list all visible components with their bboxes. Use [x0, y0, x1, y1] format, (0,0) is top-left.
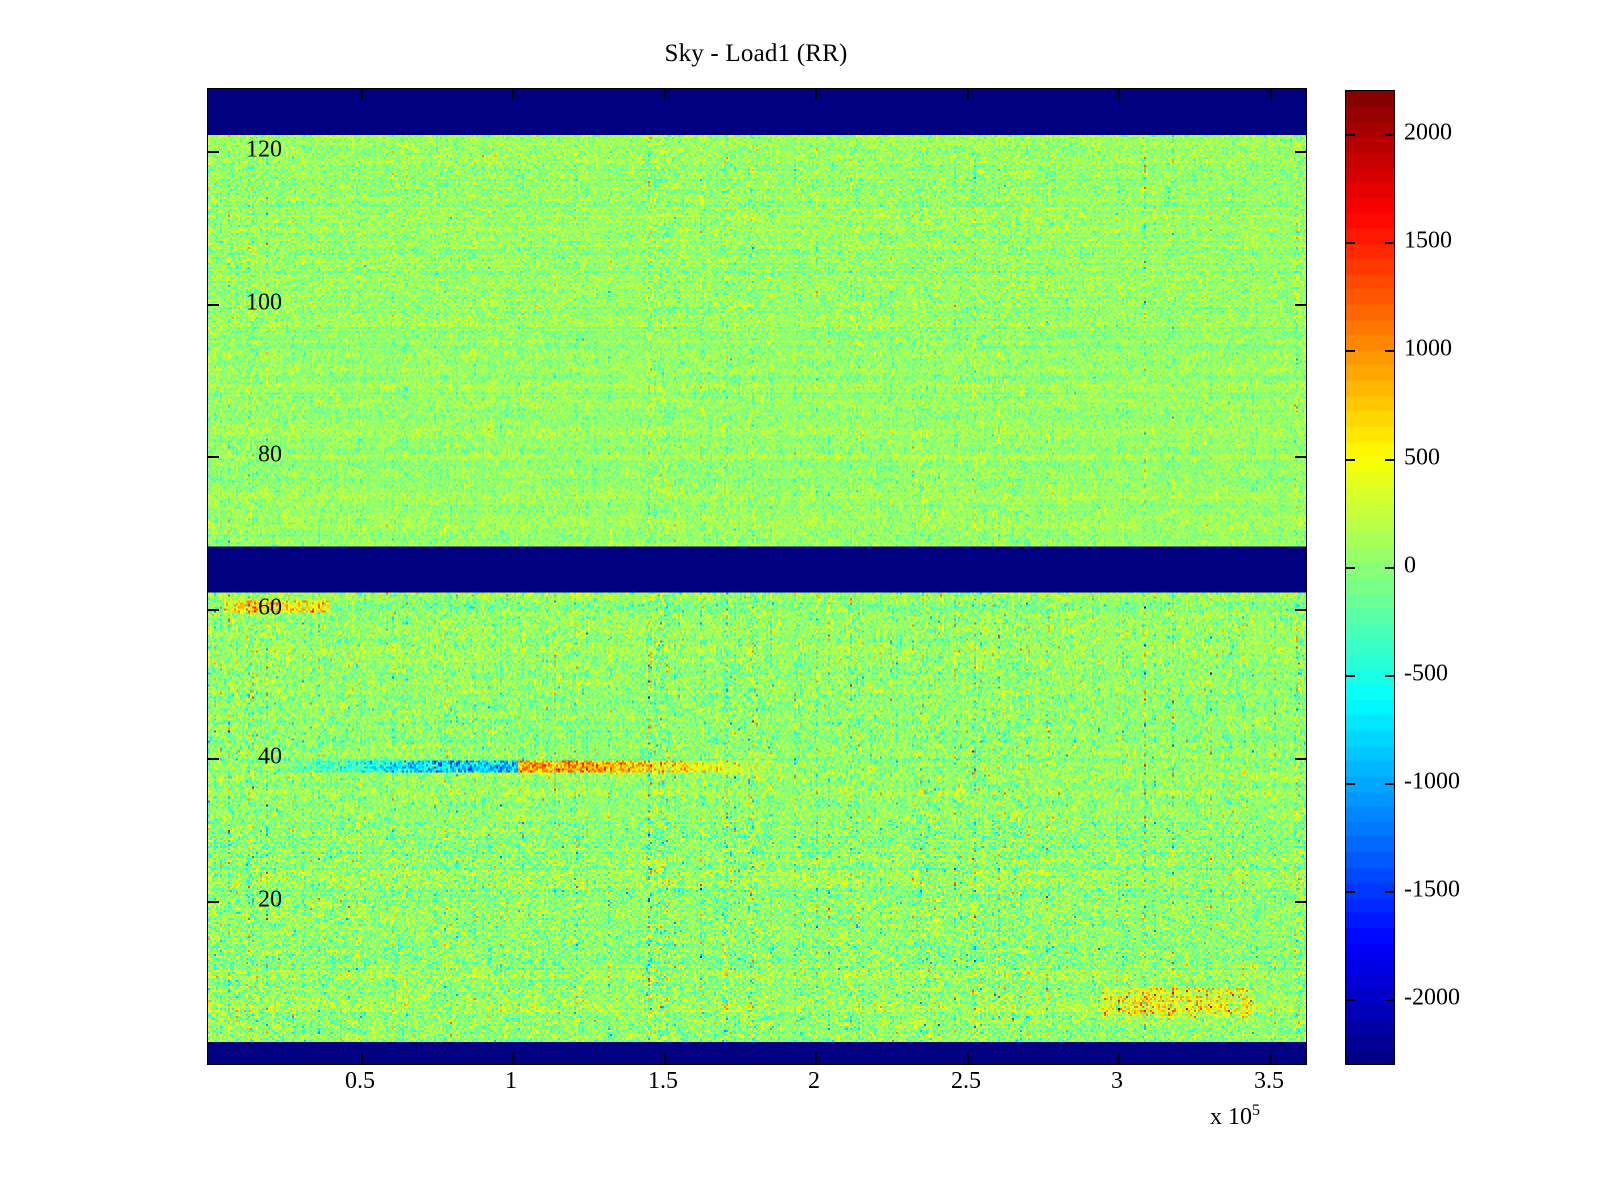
- y-tick-label: 40: [258, 744, 282, 771]
- colorbar-tick-mark: [1346, 783, 1355, 785]
- y-tick-mark: [208, 151, 219, 153]
- colorbar-tick-mark-right: [1385, 242, 1394, 244]
- colorbar-tick-label: -500: [1404, 660, 1448, 687]
- x-tick-mark-top: [1270, 89, 1272, 100]
- colorbar-tick-mark: [1346, 459, 1355, 461]
- x-exponent-power: 5: [1252, 1102, 1260, 1119]
- colorbar-tick-mark-right: [1385, 999, 1394, 1001]
- colorbar-tick-mark-right: [1385, 459, 1394, 461]
- x-tick-label: 1.5: [648, 1068, 678, 1095]
- x-tick-mark: [815, 1053, 817, 1064]
- y-tick-label: 60: [258, 595, 282, 622]
- x-tick-label: 0.5: [345, 1068, 375, 1095]
- x-tick-mark: [664, 1053, 666, 1064]
- x-tick-label: 2: [808, 1068, 820, 1095]
- x-tick-label: 3: [1111, 1068, 1123, 1095]
- colorbar-tick-label: 2000: [1404, 120, 1452, 147]
- x-tick-mark-top: [967, 89, 969, 100]
- y-tick-mark-right: [1295, 609, 1306, 611]
- x-tick-mark: [361, 1053, 363, 1064]
- colorbar-tick-mark: [1346, 999, 1355, 1001]
- x-tick-mark: [1118, 1053, 1120, 1064]
- y-tick-mark-right: [1295, 901, 1306, 903]
- y-tick-label: 100: [246, 290, 282, 317]
- y-tick-mark: [208, 304, 219, 306]
- y-tick-mark-right: [1295, 304, 1306, 306]
- heatmap-image: [208, 89, 1306, 1064]
- x-tick-mark: [512, 1053, 514, 1064]
- x-exponent-base: x 10: [1210, 1104, 1252, 1130]
- x-tick-mark: [1270, 1053, 1272, 1064]
- x-tick-mark-top: [361, 89, 363, 100]
- x-tick-label: 3.5: [1254, 1068, 1284, 1095]
- y-tick-mark-right: [1295, 456, 1306, 458]
- colorbar-tick-mark-right: [1385, 350, 1394, 352]
- x-tick-mark-top: [512, 89, 514, 100]
- colorbar-tick-label: -1500: [1404, 877, 1460, 904]
- colorbar-tick-mark: [1346, 350, 1355, 352]
- colorbar-tick-mark: [1346, 242, 1355, 244]
- colorbar-tick-label: -1000: [1404, 768, 1460, 795]
- colorbar-tick-mark-right: [1385, 567, 1394, 569]
- y-tick-mark: [208, 758, 219, 760]
- x-tick-label: 2.5: [951, 1068, 981, 1095]
- colorbar-tick-label: -2000: [1404, 985, 1460, 1012]
- x-tick-mark: [967, 1053, 969, 1064]
- colorbar-tick-mark: [1346, 567, 1355, 569]
- y-tick-mark-right: [1295, 151, 1306, 153]
- colorbar-tick-mark-right: [1385, 891, 1394, 893]
- heatmap-axes[interactable]: [207, 88, 1307, 1065]
- colorbar-tick-label: 1500: [1404, 228, 1452, 255]
- colorbar[interactable]: [1345, 90, 1395, 1065]
- x-tick-mark-top: [1118, 89, 1120, 100]
- x-tick-label: 1: [505, 1068, 517, 1095]
- page-title: Sky - Load1 (RR): [207, 40, 1305, 68]
- y-tick-label: 20: [258, 887, 282, 914]
- colorbar-tick-mark: [1346, 134, 1355, 136]
- y-tick-label: 120: [246, 137, 282, 164]
- x-axis-exponent-label: x 105: [1210, 1102, 1260, 1131]
- y-tick-label: 80: [258, 442, 282, 469]
- y-tick-mark-right: [1295, 758, 1306, 760]
- colorbar-tick-mark: [1346, 675, 1355, 677]
- colorbar-gradient: [1346, 91, 1394, 1064]
- colorbar-tick-label: 1000: [1404, 336, 1452, 363]
- y-tick-mark: [208, 609, 219, 611]
- colorbar-tick-label: 0: [1404, 552, 1416, 579]
- colorbar-tick-label: 500: [1404, 444, 1440, 471]
- x-tick-mark-top: [664, 89, 666, 100]
- colorbar-tick-mark: [1346, 891, 1355, 893]
- colorbar-tick-mark-right: [1385, 783, 1394, 785]
- colorbar-tick-mark-right: [1385, 134, 1394, 136]
- y-tick-mark: [208, 901, 219, 903]
- x-tick-mark-top: [815, 89, 817, 100]
- figure-canvas: Sky - Load1 (RR) 12010080604020 0.511.52…: [0, 0, 1600, 1200]
- colorbar-tick-mark-right: [1385, 675, 1394, 677]
- y-tick-mark: [208, 456, 219, 458]
